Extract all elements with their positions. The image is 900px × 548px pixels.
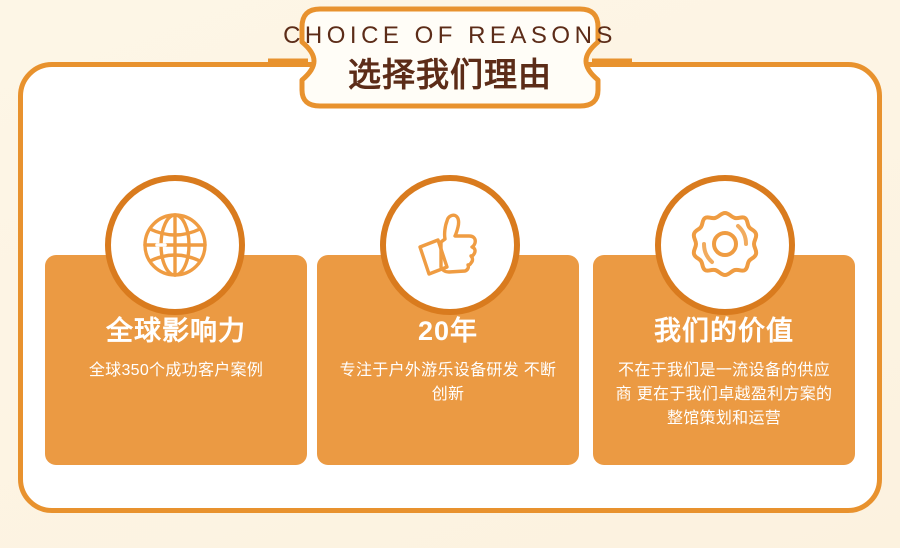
feature-card-description: 全球350个成功客户案例: [61, 359, 291, 383]
feature-icon-badge-1: [105, 175, 245, 315]
globe-icon: [133, 203, 217, 287]
title-banner: CHOICE OF REASONS 选择我们理由: [268, 4, 632, 112]
feature-card-description: 不在于我们是一流设备的供应商 更在于我们卓越盈利方案的整馆策划和运营: [609, 359, 839, 431]
feature-icon-badge-3: [655, 175, 795, 315]
feature-card-title: 我们的价值: [609, 317, 839, 347]
feature-card-description: 专注于户外游乐设备研发 不断创新: [333, 359, 563, 407]
feature-card-title: 全球影响力: [61, 317, 291, 347]
promo-poster: CHOICE OF REASONS 选择我们理由 全球影响力 全球350个成功客…: [0, 0, 900, 548]
thumbs-up-icon: [407, 202, 493, 288]
feature-icon-badge-2: [380, 175, 520, 315]
banner-shape-icon: [268, 4, 632, 112]
gear-icon: [683, 203, 767, 287]
feature-card-title: 20年: [333, 317, 563, 347]
